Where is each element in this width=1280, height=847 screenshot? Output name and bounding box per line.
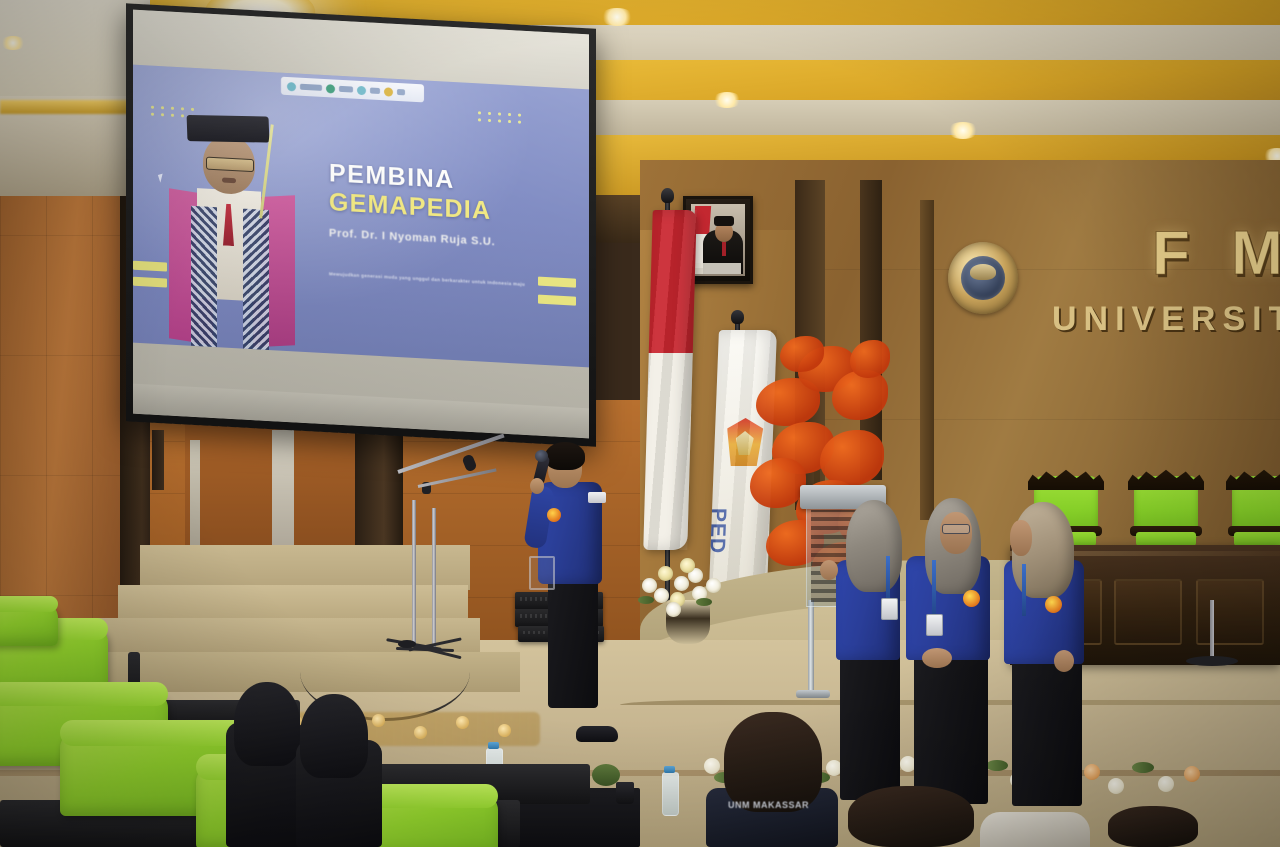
stage-chair[interactable] (1128, 468, 1204, 546)
organization-flag-text: PED (704, 508, 730, 554)
graduation-cap-icon (187, 115, 270, 143)
audience-member-hijab (234, 682, 300, 766)
audience-member-hair (1108, 806, 1198, 847)
chair-seat (1136, 532, 1196, 546)
logo-icon-2 (326, 84, 335, 93)
speaker-bag (529, 556, 555, 590)
flagpole-finial-2 (731, 310, 744, 324)
logo-icon-3 (357, 85, 366, 94)
jacket-back-text: UNM MAKASSAR (728, 800, 809, 810)
microphone-stand-right (1210, 600, 1214, 660)
downlight-icon (0, 36, 26, 50)
stand-base (398, 640, 416, 648)
downlight-icon (947, 122, 979, 139)
portrait-caption (695, 263, 741, 274)
peci-cap-icon (714, 216, 734, 226)
portrait-image (691, 204, 745, 276)
audience-member-hair (724, 712, 822, 812)
stage-chair[interactable] (1226, 468, 1280, 546)
university-seal-icon (948, 242, 1018, 314)
slide-accent-bar (133, 277, 167, 288)
logo-wordmark-1 (300, 84, 322, 91)
batik-right (243, 209, 269, 350)
student-center-badge (926, 614, 943, 636)
wall-text-university: UNIVERSIT (1052, 300, 1280, 339)
logo-icon-4 (384, 87, 393, 96)
slide-accent-bar (133, 261, 167, 272)
chair-crest (1226, 468, 1280, 490)
sleeve-patch (588, 492, 606, 503)
student-left-hand (820, 560, 838, 580)
water-bottle (662, 772, 679, 816)
student-left-lanyard (886, 556, 890, 600)
wall-text-faculty: F M (1152, 218, 1280, 289)
student-center-lanyard (932, 560, 936, 616)
professor-mouth (222, 177, 236, 183)
batik-left (191, 206, 217, 347)
logo-wordmark-2 (339, 86, 353, 93)
slide-professor-photo (169, 113, 293, 350)
student-left-skirt (840, 650, 900, 800)
student-center-skirt (914, 652, 988, 804)
bottle-cap (664, 766, 675, 773)
chair-crest (1128, 468, 1204, 490)
projection-screen: PEMBINA GEMAPEDIA Prof. Dr. I Nyoman Ruj… (126, 3, 596, 446)
presentation-slide: PEMBINA GEMAPEDIA Prof. Dr. I Nyoman Ruj… (133, 65, 589, 368)
flower-bouquet (636, 556, 742, 616)
lectern-base (796, 690, 830, 698)
stage-riser (140, 545, 470, 590)
microphone-stand (412, 500, 416, 645)
shoulder-emblem-icon (547, 508, 561, 522)
auditorium-seat[interactable] (0, 596, 60, 646)
audience-member-hijab (300, 694, 368, 778)
downlight-icon (712, 92, 742, 108)
chair-crest (1028, 468, 1104, 490)
speaker-shoe (576, 726, 618, 742)
speaker-hand (530, 478, 544, 494)
eyeglasses-icon (942, 524, 970, 534)
audience-member-hair (848, 786, 974, 847)
lectern-column (808, 600, 814, 695)
student-right-face (1010, 520, 1032, 556)
student-right-lanyard (1022, 564, 1026, 616)
microphone-stand (432, 508, 436, 648)
shoulder-emblem-icon (1045, 596, 1062, 613)
student-center-hands (922, 648, 952, 668)
eyeglasses-icon (206, 157, 254, 173)
student-left-hijab (846, 500, 902, 592)
student-right-skirt (1012, 656, 1082, 806)
screen-surface: PEMBINA GEMAPEDIA Prof. Dr. I Nyoman Ruj… (133, 10, 589, 439)
shoulder-emblem-icon (963, 590, 980, 607)
stand-base-right (1186, 656, 1238, 666)
screen-support-post (152, 430, 164, 490)
small-plant (592, 764, 620, 786)
speaker-hair (545, 442, 585, 470)
microphone-capsule (535, 450, 548, 462)
student-right-hand (1054, 650, 1074, 672)
wall-trim-vertical (920, 200, 934, 520)
logo-icon-1 (287, 81, 296, 90)
logo-wordmark-3 (370, 87, 380, 94)
table-panel (1196, 579, 1264, 645)
student-left-badge (881, 598, 898, 620)
seminar-hall-photo: F M UNIVERSIT PED (0, 0, 1280, 847)
cup (616, 782, 634, 804)
speaker-trousers (548, 578, 598, 708)
chair-seat (1234, 532, 1280, 546)
downlight-icon (600, 8, 634, 26)
logo-wordmark-4 (397, 89, 405, 95)
table-panel (1114, 579, 1182, 645)
seal-inner (961, 256, 1005, 300)
bottle-cap (488, 742, 499, 749)
audience-member-shoulder (980, 812, 1090, 847)
flagpole-finial (661, 188, 674, 203)
portrait-tie (722, 242, 726, 256)
